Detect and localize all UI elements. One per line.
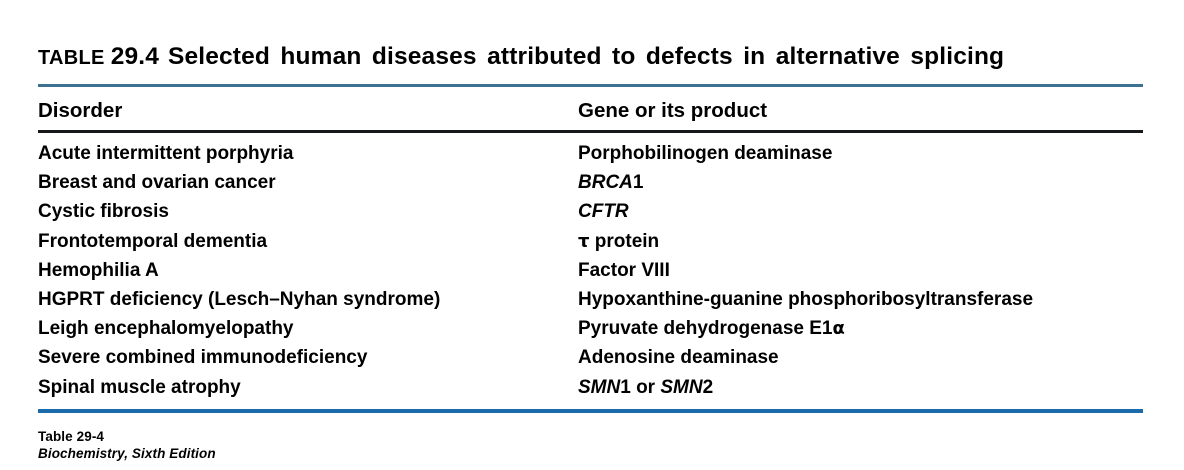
cell-gene: Pyruvate dehydrogenase E1α bbox=[578, 318, 845, 340]
caption-table-number: Table 29-4 bbox=[38, 428, 216, 445]
cell-gene: BRCA1 bbox=[578, 172, 643, 194]
cell-disorder: Frontotemporal dementia bbox=[38, 231, 267, 253]
caption-source: Biochemistry, Sixth Edition bbox=[38, 445, 216, 462]
figure-caption: Table 29-4 Biochemistry, Sixth Edition bbox=[38, 428, 216, 462]
table-row: Spinal muscle atrophySMN1 or SMN2 bbox=[0, 377, 1184, 406]
table-row: Cystic fibrosisCFTR bbox=[0, 201, 1184, 230]
cell-disorder: Hemophilia A bbox=[38, 260, 159, 282]
cell-disorder: Severe combined immunodeficiency bbox=[38, 347, 367, 369]
rule-header-separator bbox=[38, 130, 1143, 133]
table-row: HGPRT deficiency (Lesch–Nyhan syndrome)H… bbox=[0, 289, 1184, 318]
cell-disorder: Spinal muscle atrophy bbox=[38, 377, 241, 399]
cell-gene: τ protein bbox=[578, 231, 659, 253]
cell-disorder: Breast and ovarian cancer bbox=[38, 172, 276, 194]
column-header-gene: Gene or its product bbox=[578, 99, 767, 123]
table-row: Breast and ovarian cancerBRCA1 bbox=[0, 172, 1184, 201]
cell-disorder: Leigh encephalomyelopathy bbox=[38, 318, 294, 340]
table-title-text: Selected human diseases attributed to de… bbox=[168, 43, 1004, 70]
table-row: Acute intermittent porphyriaPorphobilino… bbox=[0, 143, 1184, 172]
cell-gene: CFTR bbox=[578, 201, 629, 223]
cell-disorder: Cystic fibrosis bbox=[38, 201, 169, 223]
cell-gene: Adenosine deaminase bbox=[578, 347, 779, 369]
table-body: Acute intermittent porphyriaPorphobilino… bbox=[0, 143, 1184, 406]
column-header-disorder: Disorder bbox=[38, 99, 122, 123]
cell-gene: SMN1 or SMN2 bbox=[578, 377, 713, 399]
table-row: Hemophilia AFactor VIII bbox=[0, 260, 1184, 289]
table-row: Leigh encephalomyelopathyPyruvate dehydr… bbox=[0, 318, 1184, 347]
table-label: TABLE bbox=[38, 47, 105, 69]
cell-disorder: Acute intermittent porphyria bbox=[38, 143, 293, 165]
table-number: 29.4 bbox=[111, 43, 159, 70]
table-row: Frontotemporal dementiaτ protein bbox=[0, 231, 1184, 260]
rule-bottom bbox=[38, 409, 1143, 413]
cell-disorder: HGPRT deficiency (Lesch–Nyhan syndrome) bbox=[38, 289, 440, 311]
table-figure: TABLE29.4Selected human diseases attribu… bbox=[0, 0, 1184, 470]
rule-top bbox=[38, 84, 1143, 87]
page-title: TABLE29.4Selected human diseases attribu… bbox=[38, 43, 1148, 71]
cell-gene: Hypoxanthine-guanine phosphoribosyltrans… bbox=[578, 289, 1033, 311]
cell-gene: Factor VIII bbox=[578, 260, 670, 282]
cell-gene: Porphobilinogen deaminase bbox=[578, 143, 832, 165]
table-row: Severe combined immunodeficiencyAdenosin… bbox=[0, 347, 1184, 376]
